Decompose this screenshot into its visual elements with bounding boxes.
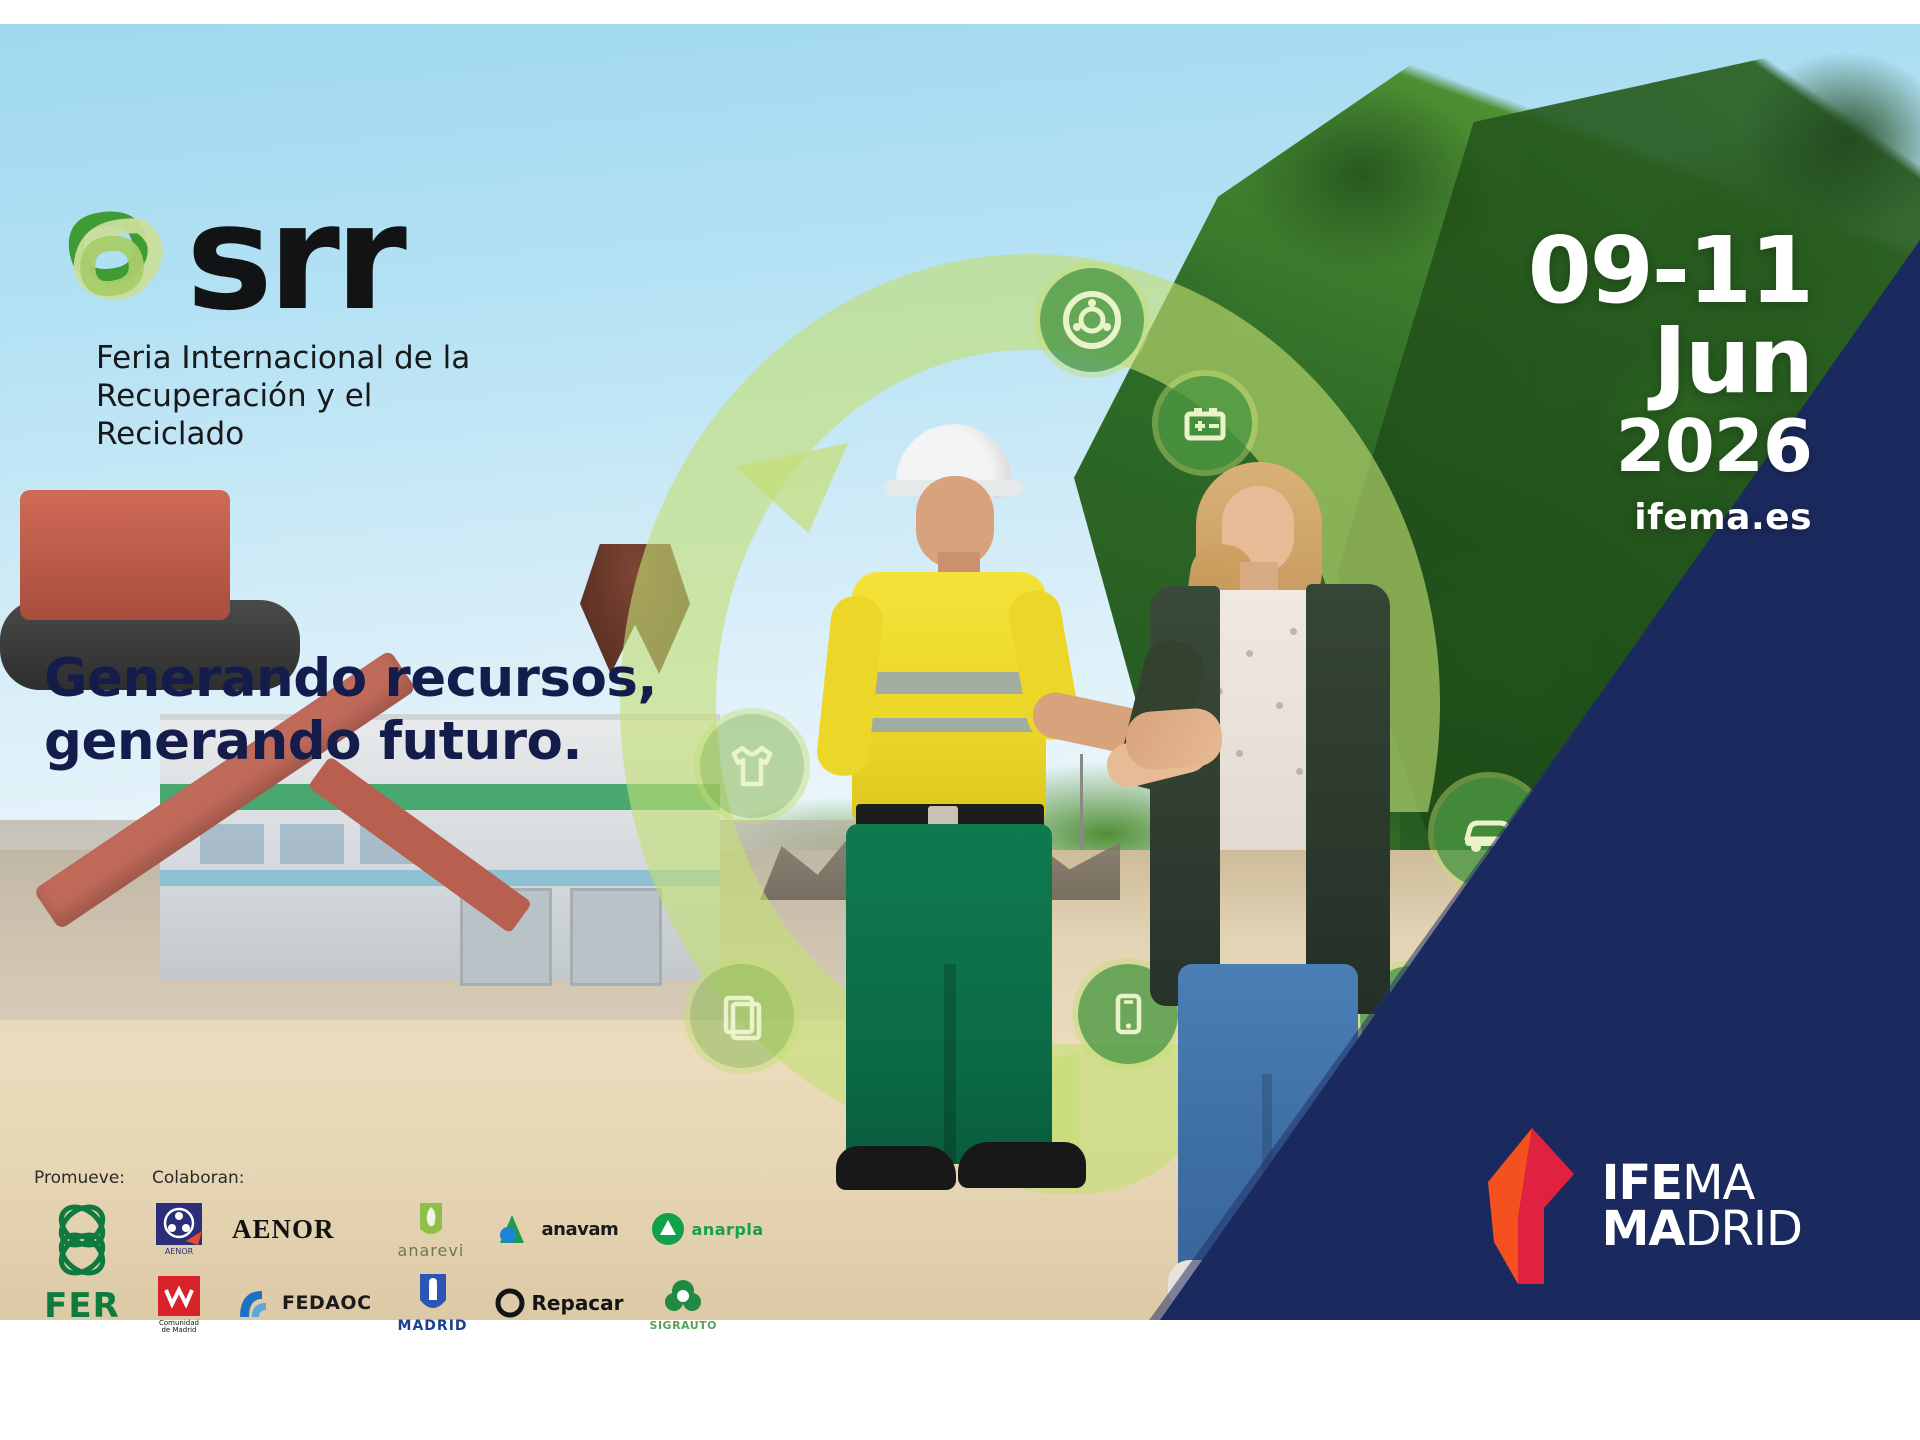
paper-icon — [690, 964, 794, 1068]
event-website[interactable]: ifema.es — [1528, 491, 1812, 545]
tshirt-icon — [700, 714, 804, 818]
svg-text:AENOR: AENOR — [165, 1247, 194, 1256]
ifema-flame-icon — [1478, 1122, 1586, 1290]
srr-subtitle-line2: Recuperación y el Reciclado — [96, 378, 526, 454]
collaborate-label: Colaboran: — [152, 1168, 764, 1188]
madrid-label: MADRID — [398, 1318, 468, 1334]
promotes-label: Promueve: — [34, 1168, 130, 1188]
utility-pole — [1080, 754, 1083, 850]
ifema-line2-bold: MA — [1602, 1201, 1685, 1257]
sigrauto-icon — [662, 1275, 704, 1317]
poster: srr Feria Internacional de la Recuperaci… — [0, 0, 1920, 1440]
sponsor-fedaoc[interactable]: FEDAOC — [232, 1272, 372, 1334]
anavam-icon — [494, 1209, 536, 1249]
sponsor-anarevi[interactable]: anarevi — [398, 1198, 468, 1260]
slogan: Generando recursos, generando futuro. — [44, 648, 657, 773]
anarpla-icon — [650, 1211, 686, 1247]
svg-text:de Madrid: de Madrid — [161, 1326, 196, 1332]
event-month: Jun — [1528, 314, 1812, 408]
anavam-label: anavam — [542, 1219, 619, 1240]
aenor-icon: AENOR — [152, 1201, 206, 1257]
worker-shoe — [958, 1142, 1086, 1188]
event-date-block: 09-11 Jun 2026 ifema.es — [1528, 228, 1812, 545]
fer-knot-icon — [34, 1198, 130, 1284]
comunidad-madrid-icon: Comunidad de Madrid — [152, 1274, 206, 1332]
ifema-line2-light: DRID — [1685, 1201, 1802, 1257]
srr-branding: srr Feria Internacional de la Recuperaci… — [44, 200, 684, 453]
collaborator-logo-grid: AENOR AENOR anarevi — [152, 1198, 764, 1334]
srr-subtitle-line1: Feria Internacional de la — [96, 340, 526, 378]
blouse-pattern-dot — [1236, 750, 1243, 757]
madrid-icon — [416, 1272, 450, 1316]
fedaoc-icon — [232, 1283, 276, 1323]
fedaoc-label: FEDAOC — [282, 1292, 372, 1314]
hi-vis-stripe — [852, 718, 1046, 732]
hi-vis-stripe — [852, 672, 1046, 694]
slogan-line1: Generando recursos, — [44, 648, 657, 711]
srr-subtitle: Feria Internacional de la Recuperación y… — [96, 340, 526, 453]
blouse-pattern-dot — [1246, 650, 1253, 657]
sponsor-aenor[interactable]: AENOR — [232, 1198, 372, 1260]
blouse-pattern-dot — [1296, 768, 1303, 775]
excavator-cab — [20, 490, 230, 620]
battery-icon — [1158, 376, 1252, 470]
ifema-wordmark: IFEMA MADRID — [1602, 1160, 1802, 1252]
sigrauto-label: SIGRAUTO — [650, 1319, 717, 1332]
collaborators-column: Colaboran: AENOR AENOR — [152, 1168, 764, 1334]
worker-shoe — [836, 1146, 956, 1190]
sponsor-repacar[interactable]: Repacar — [494, 1272, 624, 1334]
srr-knot-logo-icon — [44, 200, 176, 318]
trouser-leg-split — [944, 964, 956, 1164]
building-door — [570, 888, 662, 986]
handshake — [1124, 707, 1224, 772]
sponsor-anavam[interactable]: anavam — [494, 1198, 624, 1260]
tire-icon — [1040, 268, 1144, 372]
fer-label: FER — [44, 1286, 120, 1326]
aenor-label: AENOR — [232, 1214, 335, 1245]
blouse-pattern-dot — [1276, 702, 1283, 709]
sponsor-madrid[interactable]: MADRID — [398, 1272, 468, 1334]
sponsor-sigrauto[interactable]: SIGRAUTO — [650, 1272, 764, 1334]
repacar-icon — [494, 1287, 526, 1319]
slogan-line2: generando futuro. — [44, 711, 657, 774]
fer-logo[interactable]: FER — [34, 1198, 130, 1326]
woman-coat-right-panel — [1306, 584, 1390, 1014]
excavator-arm — [308, 756, 533, 934]
promoter-column: Promueve: FER — [34, 1168, 130, 1326]
repacar-label: Repacar — [532, 1291, 624, 1315]
blouse-pattern-dot — [1290, 628, 1297, 635]
sponsor-aenor-mark[interactable]: AENOR — [152, 1198, 206, 1260]
event-days: 09-11 — [1528, 228, 1812, 314]
sponsor-bar: Promueve: FER Colaboran: — [34, 1168, 764, 1334]
anarpla-label: anarpla — [692, 1220, 764, 1239]
sponsor-anarpla[interactable]: anarpla — [650, 1198, 764, 1260]
anarevi-label: anarevi — [398, 1241, 465, 1260]
ifema-madrid-logo[interactable]: IFEMA MADRID — [1478, 1122, 1802, 1290]
event-year: 2026 — [1528, 408, 1812, 484]
sponsor-comunidad-madrid[interactable]: Comunidad de Madrid — [152, 1272, 206, 1334]
anarevi-icon — [412, 1199, 450, 1239]
srr-wordmark: srr — [186, 202, 402, 316]
